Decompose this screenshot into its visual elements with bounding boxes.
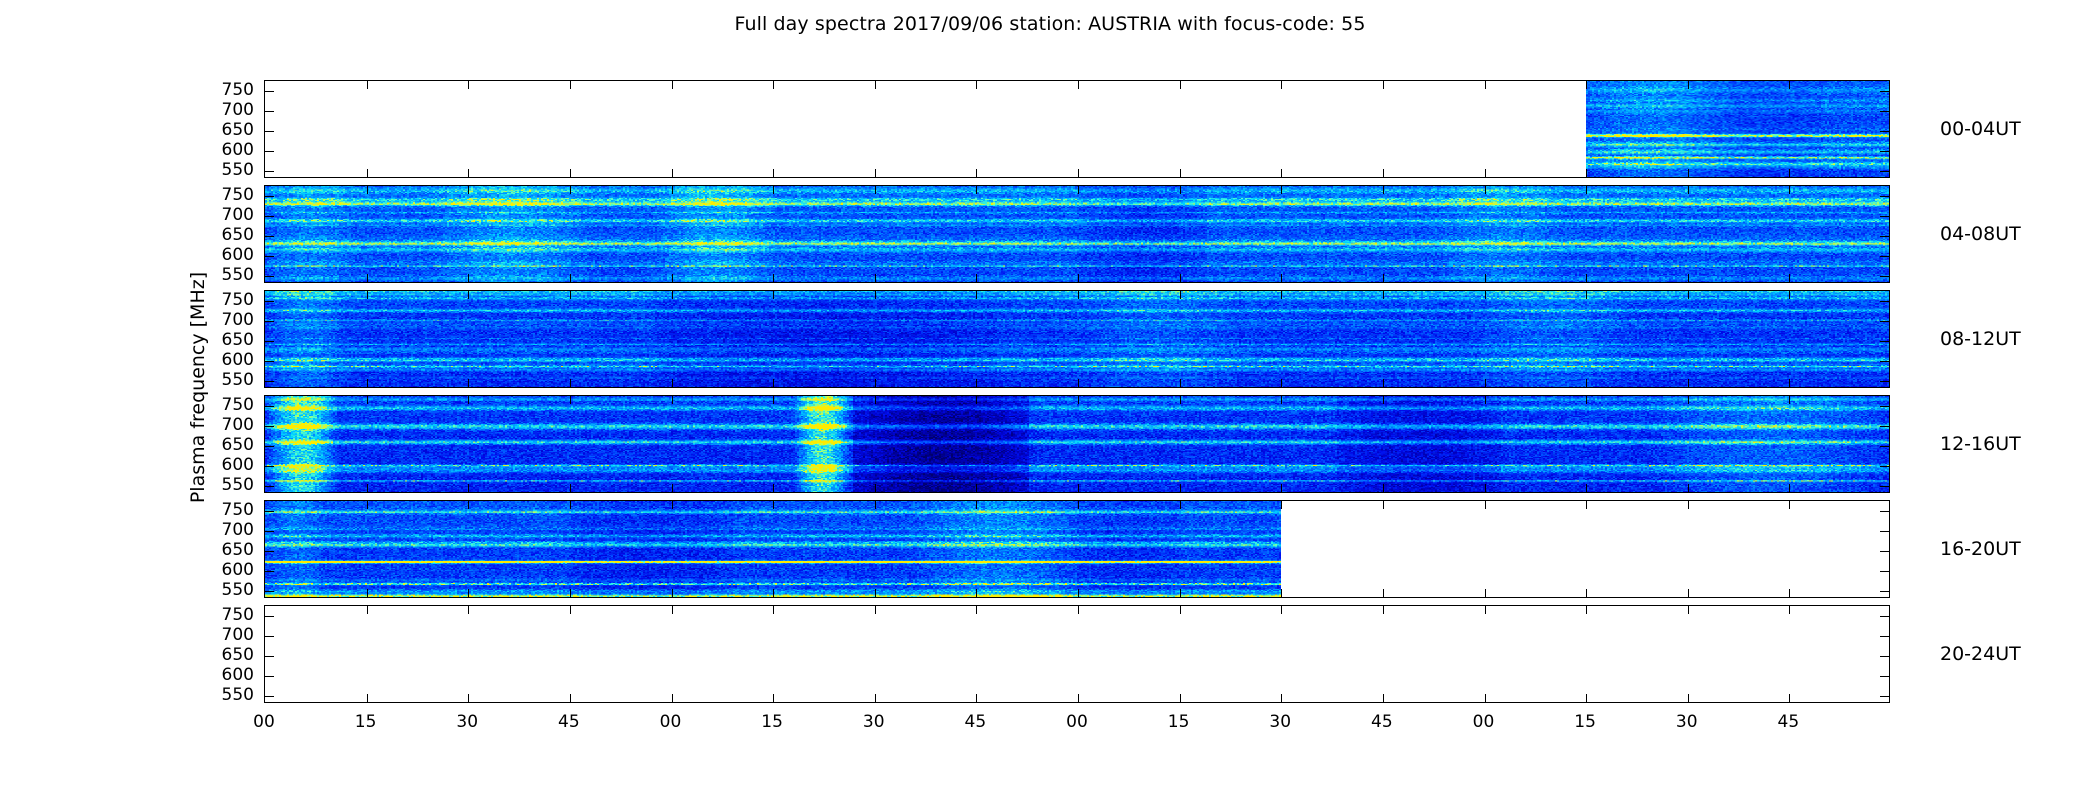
x-tick-mark: [875, 186, 876, 194]
x-tick-mark: [875, 169, 876, 177]
y-tick-mark: [265, 636, 274, 637]
x-tick-mark: [1281, 396, 1282, 404]
y-tick-mark: [265, 276, 274, 277]
x-tick-mark: [672, 694, 673, 702]
x-tick-mark: [570, 169, 571, 177]
x-tick-mark: [1180, 291, 1181, 299]
y-tick-label: 700: [198, 205, 254, 225]
x-tick-mark: [976, 186, 977, 194]
x-tick-mark: [976, 606, 977, 614]
x-tick-mark: [875, 589, 876, 597]
x-tick-mark: [1688, 396, 1689, 404]
x-tick-mark: [1383, 169, 1384, 177]
x-tick-mark: [976, 291, 977, 299]
x-tick-mark: [1078, 169, 1079, 177]
panel-plot-area: [265, 606, 1889, 702]
x-tick-mark: [1789, 291, 1790, 299]
x-tick-mark: [367, 274, 368, 282]
y-tick-mark: [265, 381, 274, 382]
spectrogram-panel-20-24ut: [264, 605, 1890, 703]
y-tick-label: 650: [198, 225, 254, 245]
y-tick-mark: [1880, 341, 1889, 342]
row-label-20-24ut: 20-24UT: [1940, 643, 2021, 665]
y-tick-label: 550: [198, 265, 254, 285]
x-tick-mark: [367, 501, 368, 509]
x-tick-mark: [468, 186, 469, 194]
x-tick-mark: [1180, 694, 1181, 702]
y-tick-mark: [265, 131, 274, 132]
x-tick-mark: [1485, 396, 1486, 404]
y-tick-mark: [1880, 656, 1889, 657]
x-tick-mark: [1485, 291, 1486, 299]
x-tick-mark: [976, 484, 977, 492]
y-tick-mark: [265, 486, 274, 487]
x-tick-label: 45: [558, 712, 580, 732]
x-tick-mark: [875, 291, 876, 299]
x-tick-mark: [773, 396, 774, 404]
x-tick-mark: [1485, 379, 1486, 387]
x-tick-mark: [1789, 501, 1790, 509]
x-tick-label: 30: [1269, 712, 1291, 732]
x-tick-mark: [1688, 274, 1689, 282]
x-tick-mark: [1383, 694, 1384, 702]
spectrogram-data-12-16ut: [265, 396, 1889, 492]
x-tick-mark: [1281, 484, 1282, 492]
x-tick-mark: [672, 169, 673, 177]
x-tick-mark: [468, 501, 469, 509]
x-tick-mark: [976, 589, 977, 597]
x-tick-label: 45: [965, 712, 987, 732]
x-tick-mark: [570, 606, 571, 614]
row-label-00-04ut: 00-04UT: [1940, 118, 2021, 140]
x-tick-mark: [1078, 396, 1079, 404]
x-tick-mark: [672, 379, 673, 387]
x-tick-mark: [875, 606, 876, 614]
x-tick-mark: [1078, 501, 1079, 509]
y-tick-mark: [1880, 276, 1889, 277]
x-tick-mark: [570, 501, 571, 509]
y-tick-label: 700: [198, 310, 254, 330]
y-tick-mark: [1880, 301, 1889, 302]
x-tick-mark: [1383, 589, 1384, 597]
x-tick-mark: [1586, 274, 1587, 282]
x-tick-mark: [367, 169, 368, 177]
x-tick-mark: [1180, 484, 1181, 492]
x-tick-mark: [1688, 484, 1689, 492]
x-tick-mark: [1789, 169, 1790, 177]
x-tick-mark: [875, 274, 876, 282]
y-tick-label: 750: [198, 605, 254, 625]
x-tick-mark: [1383, 379, 1384, 387]
y-tick-mark: [1880, 591, 1889, 592]
x-tick-mark: [672, 606, 673, 614]
x-tick-mark: [570, 694, 571, 702]
x-tick-mark: [1789, 81, 1790, 89]
y-tick-mark: [1880, 256, 1889, 257]
x-tick-mark: [976, 379, 977, 387]
y-tick-mark: [265, 466, 274, 467]
x-tick-mark: [773, 379, 774, 387]
x-tick-mark: [1383, 81, 1384, 89]
y-tick-label: 550: [198, 475, 254, 495]
y-tick-mark: [265, 571, 274, 572]
x-tick-label: 00: [1066, 712, 1088, 732]
x-tick-mark: [1586, 589, 1587, 597]
y-tick-mark: [1880, 446, 1889, 447]
x-tick-mark: [1383, 186, 1384, 194]
y-tick-label: 650: [198, 540, 254, 560]
x-tick-mark: [672, 589, 673, 597]
x-tick-mark: [1180, 396, 1181, 404]
x-tick-mark: [1789, 694, 1790, 702]
x-tick-mark: [1383, 291, 1384, 299]
x-tick-mark: [1688, 501, 1689, 509]
x-tick-mark: [875, 81, 876, 89]
y-tick-label: 750: [198, 290, 254, 310]
x-tick-mark: [1180, 379, 1181, 387]
panel-plot-area: [265, 501, 1889, 597]
y-tick-mark: [1880, 616, 1889, 617]
x-tick-mark: [1688, 694, 1689, 702]
x-tick-mark: [1383, 396, 1384, 404]
x-tick-mark: [1383, 501, 1384, 509]
y-tick-mark: [265, 216, 274, 217]
y-tick-mark: [1880, 696, 1889, 697]
x-tick-mark: [976, 169, 977, 177]
x-tick-label: 00: [1473, 712, 1495, 732]
y-tick-mark: [1880, 236, 1889, 237]
x-tick-mark: [570, 274, 571, 282]
x-tick-mark: [1078, 291, 1079, 299]
x-tick-mark: [1281, 186, 1282, 194]
x-tick-mark: [1485, 169, 1486, 177]
x-tick-mark: [1180, 81, 1181, 89]
y-tick-mark: [265, 446, 274, 447]
y-tick-label: 600: [198, 560, 254, 580]
y-tick-mark: [265, 616, 274, 617]
x-tick-mark: [570, 396, 571, 404]
y-tick-mark: [1880, 406, 1889, 407]
y-tick-label: 700: [198, 520, 254, 540]
x-tick-mark: [1180, 274, 1181, 282]
y-tick-label: 650: [198, 435, 254, 455]
y-tick-label: 600: [198, 350, 254, 370]
y-tick-mark: [1880, 171, 1889, 172]
y-tick-mark: [265, 426, 274, 427]
x-tick-label: 15: [355, 712, 377, 732]
panel-plot-area: [265, 396, 1889, 492]
y-tick-mark: [265, 591, 274, 592]
x-tick-mark: [773, 81, 774, 89]
x-tick-mark: [773, 169, 774, 177]
x-tick-mark: [1383, 484, 1384, 492]
x-tick-mark: [875, 396, 876, 404]
x-tick-mark: [1586, 186, 1587, 194]
x-tick-mark: [773, 501, 774, 509]
y-tick-mark: [265, 551, 274, 552]
x-tick-mark: [1078, 694, 1079, 702]
row-label-12-16ut: 12-16UT: [1940, 433, 2021, 455]
y-tick-mark: [265, 321, 274, 322]
y-tick-label: 750: [198, 80, 254, 100]
x-tick-mark: [367, 291, 368, 299]
y-tick-mark: [265, 171, 274, 172]
y-tick-mark: [1880, 636, 1889, 637]
x-tick-mark: [1078, 81, 1079, 89]
x-tick-mark: [1789, 396, 1790, 404]
y-tick-label: 600: [198, 665, 254, 685]
y-tick-mark: [1880, 381, 1889, 382]
x-tick-mark: [672, 501, 673, 509]
y-tick-label: 550: [198, 370, 254, 390]
spectrogram-panel-12-16ut: [264, 395, 1890, 493]
spectrogram-figure: Full day spectra 2017/09/06 station: AUS…: [0, 0, 2100, 800]
y-tick-mark: [265, 511, 274, 512]
x-tick-mark: [976, 501, 977, 509]
x-tick-mark: [367, 186, 368, 194]
y-tick-label: 650: [198, 645, 254, 665]
x-tick-mark: [875, 379, 876, 387]
y-tick-mark: [1880, 486, 1889, 487]
x-tick-mark: [367, 379, 368, 387]
spectrogram-canvas: [265, 291, 1889, 387]
x-tick-mark: [1789, 606, 1790, 614]
x-tick-mark: [1180, 606, 1181, 614]
x-tick-mark: [1485, 81, 1486, 89]
x-tick-label: 30: [456, 712, 478, 732]
x-tick-label: 00: [253, 712, 275, 732]
x-tick-mark: [367, 396, 368, 404]
x-tick-mark: [1688, 81, 1689, 89]
y-tick-label: 600: [198, 245, 254, 265]
row-label-16-20ut: 16-20UT: [1940, 538, 2021, 560]
x-tick-mark: [1789, 589, 1790, 597]
spectrogram-canvas: [1586, 81, 1889, 177]
x-tick-mark: [570, 379, 571, 387]
x-tick-mark: [1281, 379, 1282, 387]
x-tick-mark: [875, 501, 876, 509]
x-tick-label: 45: [1371, 712, 1393, 732]
y-tick-mark: [1880, 321, 1889, 322]
x-tick-mark: [773, 694, 774, 702]
spectrogram-data-04-08ut: [265, 186, 1889, 282]
y-tick-mark: [1880, 361, 1889, 362]
x-tick-mark: [1180, 169, 1181, 177]
x-tick-mark: [1485, 186, 1486, 194]
x-tick-label: 45: [1778, 712, 1800, 732]
x-tick-mark: [1586, 694, 1587, 702]
y-tick-mark: [1880, 111, 1889, 112]
x-tick-mark: [468, 589, 469, 597]
panel-plot-area: [265, 81, 1889, 177]
y-tick-label: 750: [198, 500, 254, 520]
x-tick-label: 15: [761, 712, 783, 732]
x-tick-mark: [1078, 379, 1079, 387]
x-tick-mark: [468, 379, 469, 387]
y-tick-mark: [265, 531, 274, 532]
x-tick-mark: [1485, 501, 1486, 509]
x-tick-mark: [1281, 589, 1282, 597]
x-tick-mark: [976, 694, 977, 702]
panel-plot-area: [265, 291, 1889, 387]
x-tick-mark: [468, 694, 469, 702]
spectrogram-canvas: [265, 396, 1889, 492]
y-tick-mark: [1880, 216, 1889, 217]
x-tick-mark: [1789, 484, 1790, 492]
y-tick-mark: [1880, 426, 1889, 427]
x-tick-mark: [468, 606, 469, 614]
x-tick-mark: [570, 484, 571, 492]
x-tick-mark: [1180, 186, 1181, 194]
x-tick-mark: [1281, 694, 1282, 702]
spectrogram-canvas: [265, 501, 1281, 597]
x-tick-label: 30: [863, 712, 885, 732]
y-tick-mark: [265, 676, 274, 677]
y-tick-label: 550: [198, 160, 254, 180]
y-tick-mark: [1880, 131, 1889, 132]
y-tick-label: 700: [198, 100, 254, 120]
x-tick-mark: [1281, 81, 1282, 89]
x-tick-mark: [773, 606, 774, 614]
y-tick-label: 600: [198, 455, 254, 475]
x-tick-mark: [367, 606, 368, 614]
x-tick-label: 15: [1168, 712, 1190, 732]
x-tick-mark: [773, 274, 774, 282]
y-tick-mark: [1880, 91, 1889, 92]
y-tick-label: 700: [198, 625, 254, 645]
x-tick-mark: [468, 396, 469, 404]
x-tick-mark: [1586, 169, 1587, 177]
y-tick-mark: [1880, 151, 1889, 152]
y-tick-mark: [265, 196, 274, 197]
y-tick-mark: [1880, 551, 1889, 552]
spectrogram-panel-00-04ut: [264, 80, 1890, 178]
x-tick-mark: [367, 589, 368, 597]
y-tick-mark: [1880, 676, 1889, 677]
x-tick-mark: [1078, 274, 1079, 282]
x-tick-mark: [672, 81, 673, 89]
x-tick-mark: [672, 274, 673, 282]
x-tick-mark: [976, 274, 977, 282]
x-tick-mark: [468, 291, 469, 299]
x-tick-mark: [1180, 501, 1181, 509]
y-tick-mark: [265, 301, 274, 302]
x-tick-mark: [1789, 186, 1790, 194]
x-tick-mark: [1281, 501, 1282, 509]
x-tick-mark: [1078, 606, 1079, 614]
x-tick-mark: [570, 81, 571, 89]
y-tick-mark: [1880, 571, 1889, 572]
x-tick-mark: [976, 81, 977, 89]
y-tick-mark: [265, 341, 274, 342]
row-label-08-12ut: 08-12UT: [1940, 328, 2021, 350]
x-tick-label: 30: [1676, 712, 1698, 732]
y-tick-mark: [1880, 531, 1889, 532]
x-tick-mark: [1789, 274, 1790, 282]
y-tick-mark: [265, 406, 274, 407]
x-tick-mark: [976, 396, 977, 404]
y-tick-label: 750: [198, 395, 254, 415]
y-tick-mark: [265, 111, 274, 112]
x-tick-mark: [773, 589, 774, 597]
x-tick-mark: [1586, 501, 1587, 509]
x-tick-mark: [1485, 606, 1486, 614]
x-tick-mark: [570, 291, 571, 299]
x-tick-mark: [1586, 379, 1587, 387]
y-tick-mark: [265, 91, 274, 92]
x-tick-mark: [1688, 291, 1689, 299]
x-tick-mark: [1485, 274, 1486, 282]
x-tick-mark: [1078, 589, 1079, 597]
x-tick-mark: [672, 396, 673, 404]
x-tick-mark: [1383, 606, 1384, 614]
spectrogram-data-08-12ut: [265, 291, 1889, 387]
x-tick-mark: [672, 484, 673, 492]
y-tick-label: 700: [198, 415, 254, 435]
y-tick-mark: [265, 256, 274, 257]
y-tick-label: 650: [198, 330, 254, 350]
x-tick-mark: [570, 589, 571, 597]
y-tick-mark: [265, 696, 274, 697]
x-tick-mark: [1485, 484, 1486, 492]
x-tick-mark: [1586, 81, 1587, 89]
x-tick-mark: [1586, 291, 1587, 299]
y-tick-mark: [265, 236, 274, 237]
x-tick-mark: [1586, 606, 1587, 614]
y-tick-mark: [265, 656, 274, 657]
x-tick-mark: [672, 291, 673, 299]
x-tick-mark: [1383, 274, 1384, 282]
x-tick-mark: [1586, 484, 1587, 492]
x-tick-mark: [1281, 291, 1282, 299]
y-tick-label: 750: [198, 185, 254, 205]
x-tick-mark: [468, 81, 469, 89]
x-tick-mark: [1281, 274, 1282, 282]
x-tick-mark: [1078, 186, 1079, 194]
x-tick-mark: [1688, 589, 1689, 597]
y-tick-mark: [265, 151, 274, 152]
x-tick-mark: [773, 186, 774, 194]
x-tick-mark: [1078, 484, 1079, 492]
spectrogram-data-00-04ut: [1586, 81, 1889, 177]
spectrogram-canvas: [265, 186, 1889, 282]
spectrogram-data-16-20ut: [265, 501, 1281, 597]
x-tick-mark: [1485, 694, 1486, 702]
y-tick-label: 550: [198, 580, 254, 600]
x-tick-mark: [875, 694, 876, 702]
x-tick-mark: [773, 484, 774, 492]
row-label-04-08ut: 04-08UT: [1940, 223, 2021, 245]
y-tick-mark: [1880, 466, 1889, 467]
x-tick-mark: [773, 291, 774, 299]
x-tick-mark: [1281, 169, 1282, 177]
y-tick-label: 550: [198, 685, 254, 705]
x-tick-mark: [1688, 186, 1689, 194]
x-tick-mark: [367, 694, 368, 702]
y-tick-label: 600: [198, 140, 254, 160]
x-tick-mark: [1281, 606, 1282, 614]
spectrogram-panel-04-08ut: [264, 185, 1890, 283]
spectrogram-panel-08-12ut: [264, 290, 1890, 388]
page-title: Full day spectra 2017/09/06 station: AUS…: [0, 13, 2100, 35]
x-tick-label: 15: [1574, 712, 1596, 732]
x-tick-mark: [1789, 379, 1790, 387]
x-tick-mark: [1180, 589, 1181, 597]
x-tick-mark: [468, 274, 469, 282]
y-tick-mark: [1880, 196, 1889, 197]
x-tick-mark: [468, 484, 469, 492]
x-tick-mark: [1485, 589, 1486, 597]
